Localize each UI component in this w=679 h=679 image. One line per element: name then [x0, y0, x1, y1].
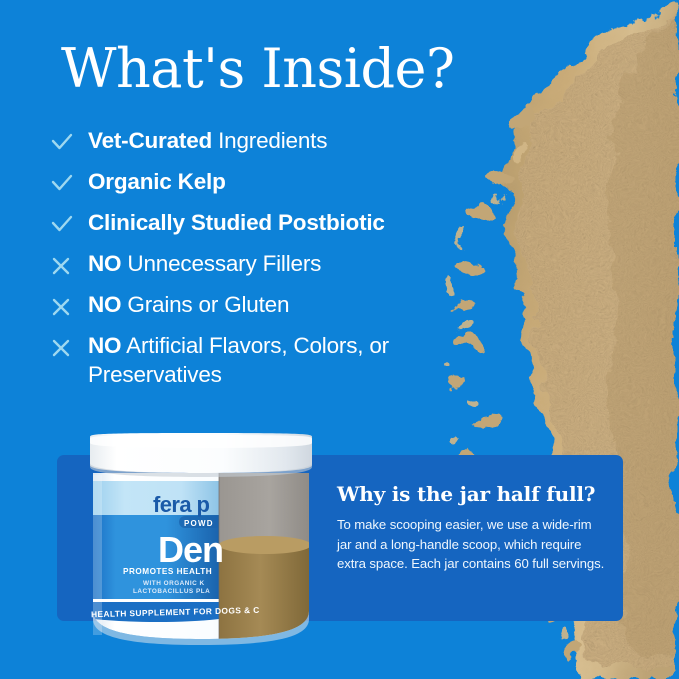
cross-icon	[50, 290, 88, 322]
list-item: Clinically Studied Postbiotic	[50, 208, 480, 240]
list-item: Organic Kelp	[50, 167, 480, 199]
list-item: Vet-Curated Ingredients	[50, 126, 480, 158]
list-item: NO Grains or Gluten	[50, 290, 480, 322]
list-item-rest: Unnecessary Fillers	[121, 251, 321, 276]
list-item-lead: Clinically Studied Postbiotic	[88, 210, 385, 235]
info-card-title: Why is the jar half full?	[337, 482, 605, 506]
list-item-text: Clinically Studied Postbiotic	[88, 208, 385, 237]
list-item-text: Vet-Curated Ingredients	[88, 126, 327, 155]
product-infographic: What's Inside? Vet-Curated Ingredients O…	[0, 0, 679, 679]
list-item-text: NO Artificial Flavors, Colors, or Preser…	[88, 331, 480, 389]
list-item-text: Organic Kelp	[88, 167, 226, 196]
list-item-text: NO Grains or Gluten	[88, 290, 289, 319]
info-card-content: Why is the jar half full? To make scoopi…	[337, 482, 605, 574]
info-card-body: To make scooping easier, we use a wide-r…	[337, 515, 605, 574]
list-item: NO Unnecessary Fillers	[50, 249, 480, 281]
cross-icon	[50, 331, 88, 363]
list-item-lead: Organic Kelp	[88, 169, 226, 194]
list-item-lead: NO	[88, 251, 121, 276]
cross-icon	[50, 249, 88, 281]
list-item-lead: NO	[88, 333, 121, 358]
check-icon	[50, 126, 88, 158]
check-icon	[50, 208, 88, 240]
check-icon	[50, 167, 88, 199]
list-item-lead: Vet-Curated	[88, 128, 212, 153]
list-item-rest: Grains or Gluten	[121, 292, 289, 317]
list-item-rest: Ingredients	[212, 128, 327, 153]
list-item-lead: NO	[88, 292, 121, 317]
page-title: What's Inside?	[61, 39, 454, 99]
list-item: NO Artificial Flavors, Colors, or Preser…	[50, 331, 480, 389]
list-item-rest: Artificial Flavors, Colors, or Preservat…	[88, 333, 389, 387]
list-item-text: NO Unnecessary Fillers	[88, 249, 321, 278]
benefit-list: Vet-Curated Ingredients Organic Kelp Cli…	[50, 126, 480, 398]
product-jar-image: fera p POWD Den PROMOTES HEALTH WITH ORG…	[83, 433, 319, 647]
